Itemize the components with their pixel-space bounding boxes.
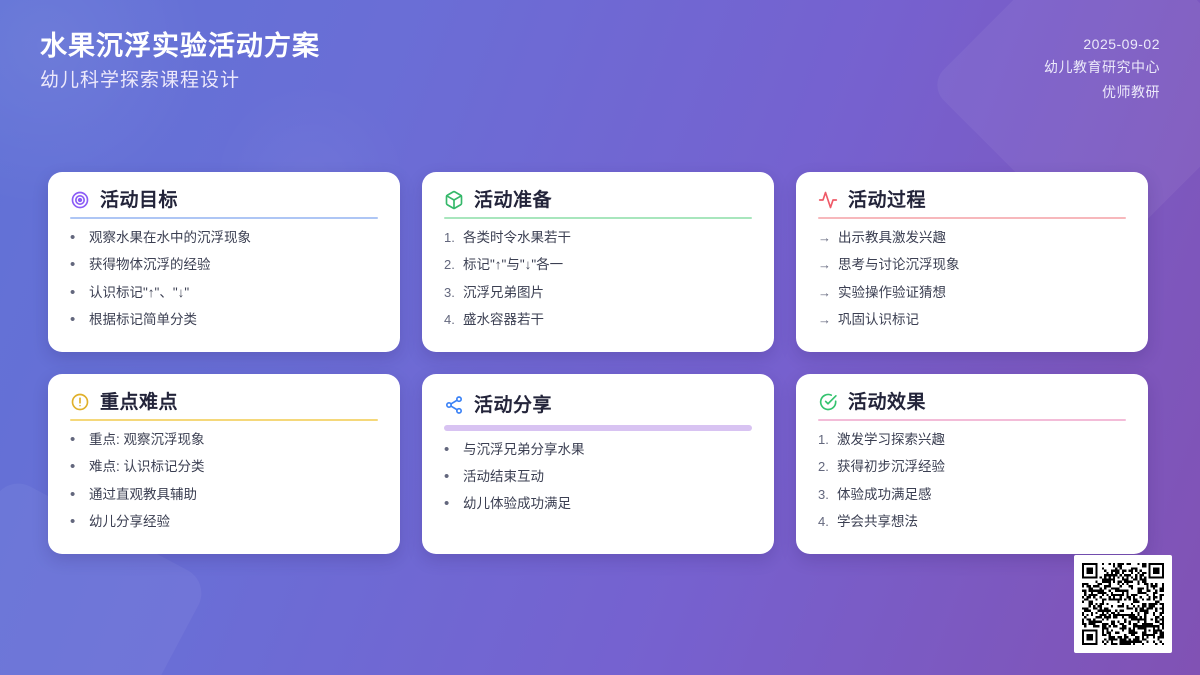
list-marker: → xyxy=(818,256,831,274)
page-title: 水果沉浮实验活动方案 xyxy=(40,30,320,62)
list-item-text: 获得初步沉浮经验 xyxy=(837,458,1126,476)
list-item: →思考与讨论沉浮现象 xyxy=(818,256,1126,274)
list-item: •重点: 观察沉浮现象 xyxy=(70,431,378,449)
list-item-text: 获得物体沉浮的经验 xyxy=(89,256,378,274)
card-header: 活动准备 xyxy=(444,190,752,210)
list-marker: • xyxy=(70,257,82,272)
list-item: •幼儿体验成功满足 xyxy=(444,495,752,513)
list-item: 1.各类时令水果若干 xyxy=(444,229,752,247)
card-accent-rule xyxy=(70,419,378,421)
card-item-list: 1.各类时令水果若干2.标记"↑"与"↓"各一3.沉浮兄弟图片4.盛水容器若干 xyxy=(444,229,752,338)
list-marker: • xyxy=(70,230,82,245)
card-grid: 活动目标•观察水果在水中的沉浮现象•获得物体沉浮的经验•认识标记"↑"、"↓"•… xyxy=(0,172,1200,554)
slide-header: 水果沉浮实验活动方案 幼儿科学探索课程设计 2025-09-02 幼儿教育研究中… xyxy=(0,0,1200,150)
card-accent-rule xyxy=(818,419,1126,421)
list-item: →巩固认识标记 xyxy=(818,311,1126,329)
card-prep[interactable]: 活动准备1.各类时令水果若干2.标记"↑"与"↓"各一3.沉浮兄弟图片4.盛水容… xyxy=(422,172,774,352)
check-circle-icon xyxy=(818,392,838,412)
list-item: 3.体验成功满足感 xyxy=(818,486,1126,504)
list-item-text: 学会共享想法 xyxy=(837,513,1126,531)
list-marker: • xyxy=(70,459,82,474)
list-item-text: 沉浮兄弟图片 xyxy=(463,284,752,302)
card-process[interactable]: 活动过程→出示教具激发兴趣→思考与讨论沉浮现象→实验操作验证猜想→巩固认识标记 xyxy=(796,172,1148,352)
card-item-list: •观察水果在水中的沉浮现象•获得物体沉浮的经验•认识标记"↑"、"↓"•根据标记… xyxy=(70,229,378,338)
list-marker: • xyxy=(444,469,456,484)
list-marker: → xyxy=(818,229,831,247)
list-marker: 1. xyxy=(818,431,830,449)
list-item-text: 认识标记"↑"、"↓" xyxy=(89,284,378,302)
list-marker: • xyxy=(444,496,456,511)
card-title: 活动过程 xyxy=(848,191,926,210)
card-header: 重点难点 xyxy=(70,392,378,412)
list-marker: • xyxy=(444,442,456,457)
list-item-text: 幼儿体验成功满足 xyxy=(463,495,752,513)
list-marker: • xyxy=(70,432,82,447)
list-item-text: 重点: 观察沉浮现象 xyxy=(89,431,378,449)
list-marker: 3. xyxy=(444,284,456,302)
header-title-block: 水果沉浮实验活动方案 幼儿科学探索课程设计 xyxy=(40,30,320,93)
list-item-text: 难点: 认识标记分类 xyxy=(89,458,378,476)
list-item-text: 盛水容器若干 xyxy=(463,311,752,329)
list-item: 2.获得初步沉浮经验 xyxy=(818,458,1126,476)
list-marker: • xyxy=(70,487,82,502)
list-item: →实验操作验证猜想 xyxy=(818,284,1126,302)
qr-code-container[interactable] xyxy=(1074,555,1172,653)
card-accent-rule xyxy=(70,217,378,219)
list-item-text: 巩固认识标记 xyxy=(838,311,1126,329)
list-marker: 3. xyxy=(818,486,830,504)
list-item: 1.激发学习探索兴趣 xyxy=(818,431,1126,449)
card-header: 活动目标 xyxy=(70,190,378,210)
list-item: •幼儿分享经验 xyxy=(70,513,378,531)
list-marker: • xyxy=(70,285,82,300)
list-item-text: 体验成功满足感 xyxy=(837,486,1126,504)
list-item-text: 观察水果在水中的沉浮现象 xyxy=(89,229,378,247)
list-item: •获得物体沉浮的经验 xyxy=(70,256,378,274)
list-item-text: 实验操作验证猜想 xyxy=(838,284,1126,302)
list-item-text: 思考与讨论沉浮现象 xyxy=(838,256,1126,274)
card-title: 活动准备 xyxy=(474,191,552,210)
pulse-icon xyxy=(818,190,838,210)
card-item-list: •与沉浮兄弟分享水果•活动结束互动•幼儿体验成功满足 xyxy=(444,441,752,523)
card-header: 活动分享 xyxy=(444,392,752,418)
header-date: 2025-09-02 xyxy=(1083,36,1160,52)
card-item-list: 1.激发学习探索兴趣2.获得初步沉浮经验3.体验成功满足感4.学会共享想法 xyxy=(818,431,1126,540)
card-item-list: →出示教具激发兴趣→思考与讨论沉浮现象→实验操作验证猜想→巩固认识标记 xyxy=(818,229,1126,338)
box-icon xyxy=(444,190,464,210)
list-item: •观察水果在水中的沉浮现象 xyxy=(70,229,378,247)
share-icon xyxy=(444,395,464,415)
list-item: •通过直观教具辅助 xyxy=(70,486,378,504)
list-item: 2.标记"↑"与"↓"各一 xyxy=(444,256,752,274)
list-marker: 2. xyxy=(818,458,830,476)
list-marker: 1. xyxy=(444,229,456,247)
slide-root: 水果沉浮实验活动方案 幼儿科学探索课程设计 2025-09-02 幼儿教育研究中… xyxy=(0,0,1200,675)
header-department: 优师教研 xyxy=(1102,82,1160,102)
list-marker: • xyxy=(70,312,82,327)
card-title: 活动分享 xyxy=(474,396,552,415)
card-accent-rule xyxy=(444,217,752,219)
list-marker: 4. xyxy=(818,513,830,531)
qr-code xyxy=(1082,563,1164,645)
list-item-text: 各类时令水果若干 xyxy=(463,229,752,247)
alert-circle-icon xyxy=(70,392,90,412)
card-accent-rule xyxy=(444,425,752,431)
list-marker: 4. xyxy=(444,311,456,329)
list-item: •认识标记"↑"、"↓" xyxy=(70,284,378,302)
list-marker: → xyxy=(818,311,831,329)
card-effect[interactable]: 活动效果1.激发学习探索兴趣2.获得初步沉浮经验3.体验成功满足感4.学会共享想… xyxy=(796,374,1148,554)
list-item: 4.学会共享想法 xyxy=(818,513,1126,531)
list-item: •与沉浮兄弟分享水果 xyxy=(444,441,752,459)
page-subtitle: 幼儿科学探索课程设计 xyxy=(40,70,320,93)
header-meta-block: 2025-09-02 幼儿教育研究中心 优师教研 xyxy=(1044,30,1160,102)
list-item-text: 出示教具激发兴趣 xyxy=(838,229,1126,247)
list-item: →出示教具激发兴趣 xyxy=(818,229,1126,247)
card-share[interactable]: 活动分享•与沉浮兄弟分享水果•活动结束互动•幼儿体验成功满足 xyxy=(422,374,774,554)
list-item-text: 活动结束互动 xyxy=(463,468,752,486)
list-item: •根据标记简单分类 xyxy=(70,311,378,329)
target-icon xyxy=(70,190,90,210)
card-goal[interactable]: 活动目标•观察水果在水中的沉浮现象•获得物体沉浮的经验•认识标记"↑"、"↓"•… xyxy=(48,172,400,352)
card-title: 活动目标 xyxy=(100,191,178,210)
card-focus[interactable]: 重点难点•重点: 观察沉浮现象•难点: 认识标记分类•通过直观教具辅助•幼儿分享… xyxy=(48,374,400,554)
list-item-text: 通过直观教具辅助 xyxy=(89,486,378,504)
list-marker: 2. xyxy=(444,256,456,274)
list-item-text: 激发学习探索兴趣 xyxy=(837,431,1126,449)
card-title: 活动效果 xyxy=(848,393,926,412)
list-item-text: 标记"↑"与"↓"各一 xyxy=(463,256,752,274)
card-header: 活动过程 xyxy=(818,190,1126,210)
list-item: 4.盛水容器若干 xyxy=(444,311,752,329)
card-item-list: •重点: 观察沉浮现象•难点: 认识标记分类•通过直观教具辅助•幼儿分享经验 xyxy=(70,431,378,540)
list-marker: • xyxy=(70,514,82,529)
list-item-text: 幼儿分享经验 xyxy=(89,513,378,531)
list-item: 3.沉浮兄弟图片 xyxy=(444,284,752,302)
list-item: •难点: 认识标记分类 xyxy=(70,458,378,476)
list-item-text: 与沉浮兄弟分享水果 xyxy=(463,441,752,459)
card-title: 重点难点 xyxy=(100,393,178,412)
list-item: •活动结束互动 xyxy=(444,468,752,486)
card-header: 活动效果 xyxy=(818,392,1126,412)
card-accent-rule xyxy=(818,217,1126,219)
header-organization: 幼儿教育研究中心 xyxy=(1044,57,1160,77)
list-marker: → xyxy=(818,284,831,302)
list-item-text: 根据标记简单分类 xyxy=(89,311,378,329)
